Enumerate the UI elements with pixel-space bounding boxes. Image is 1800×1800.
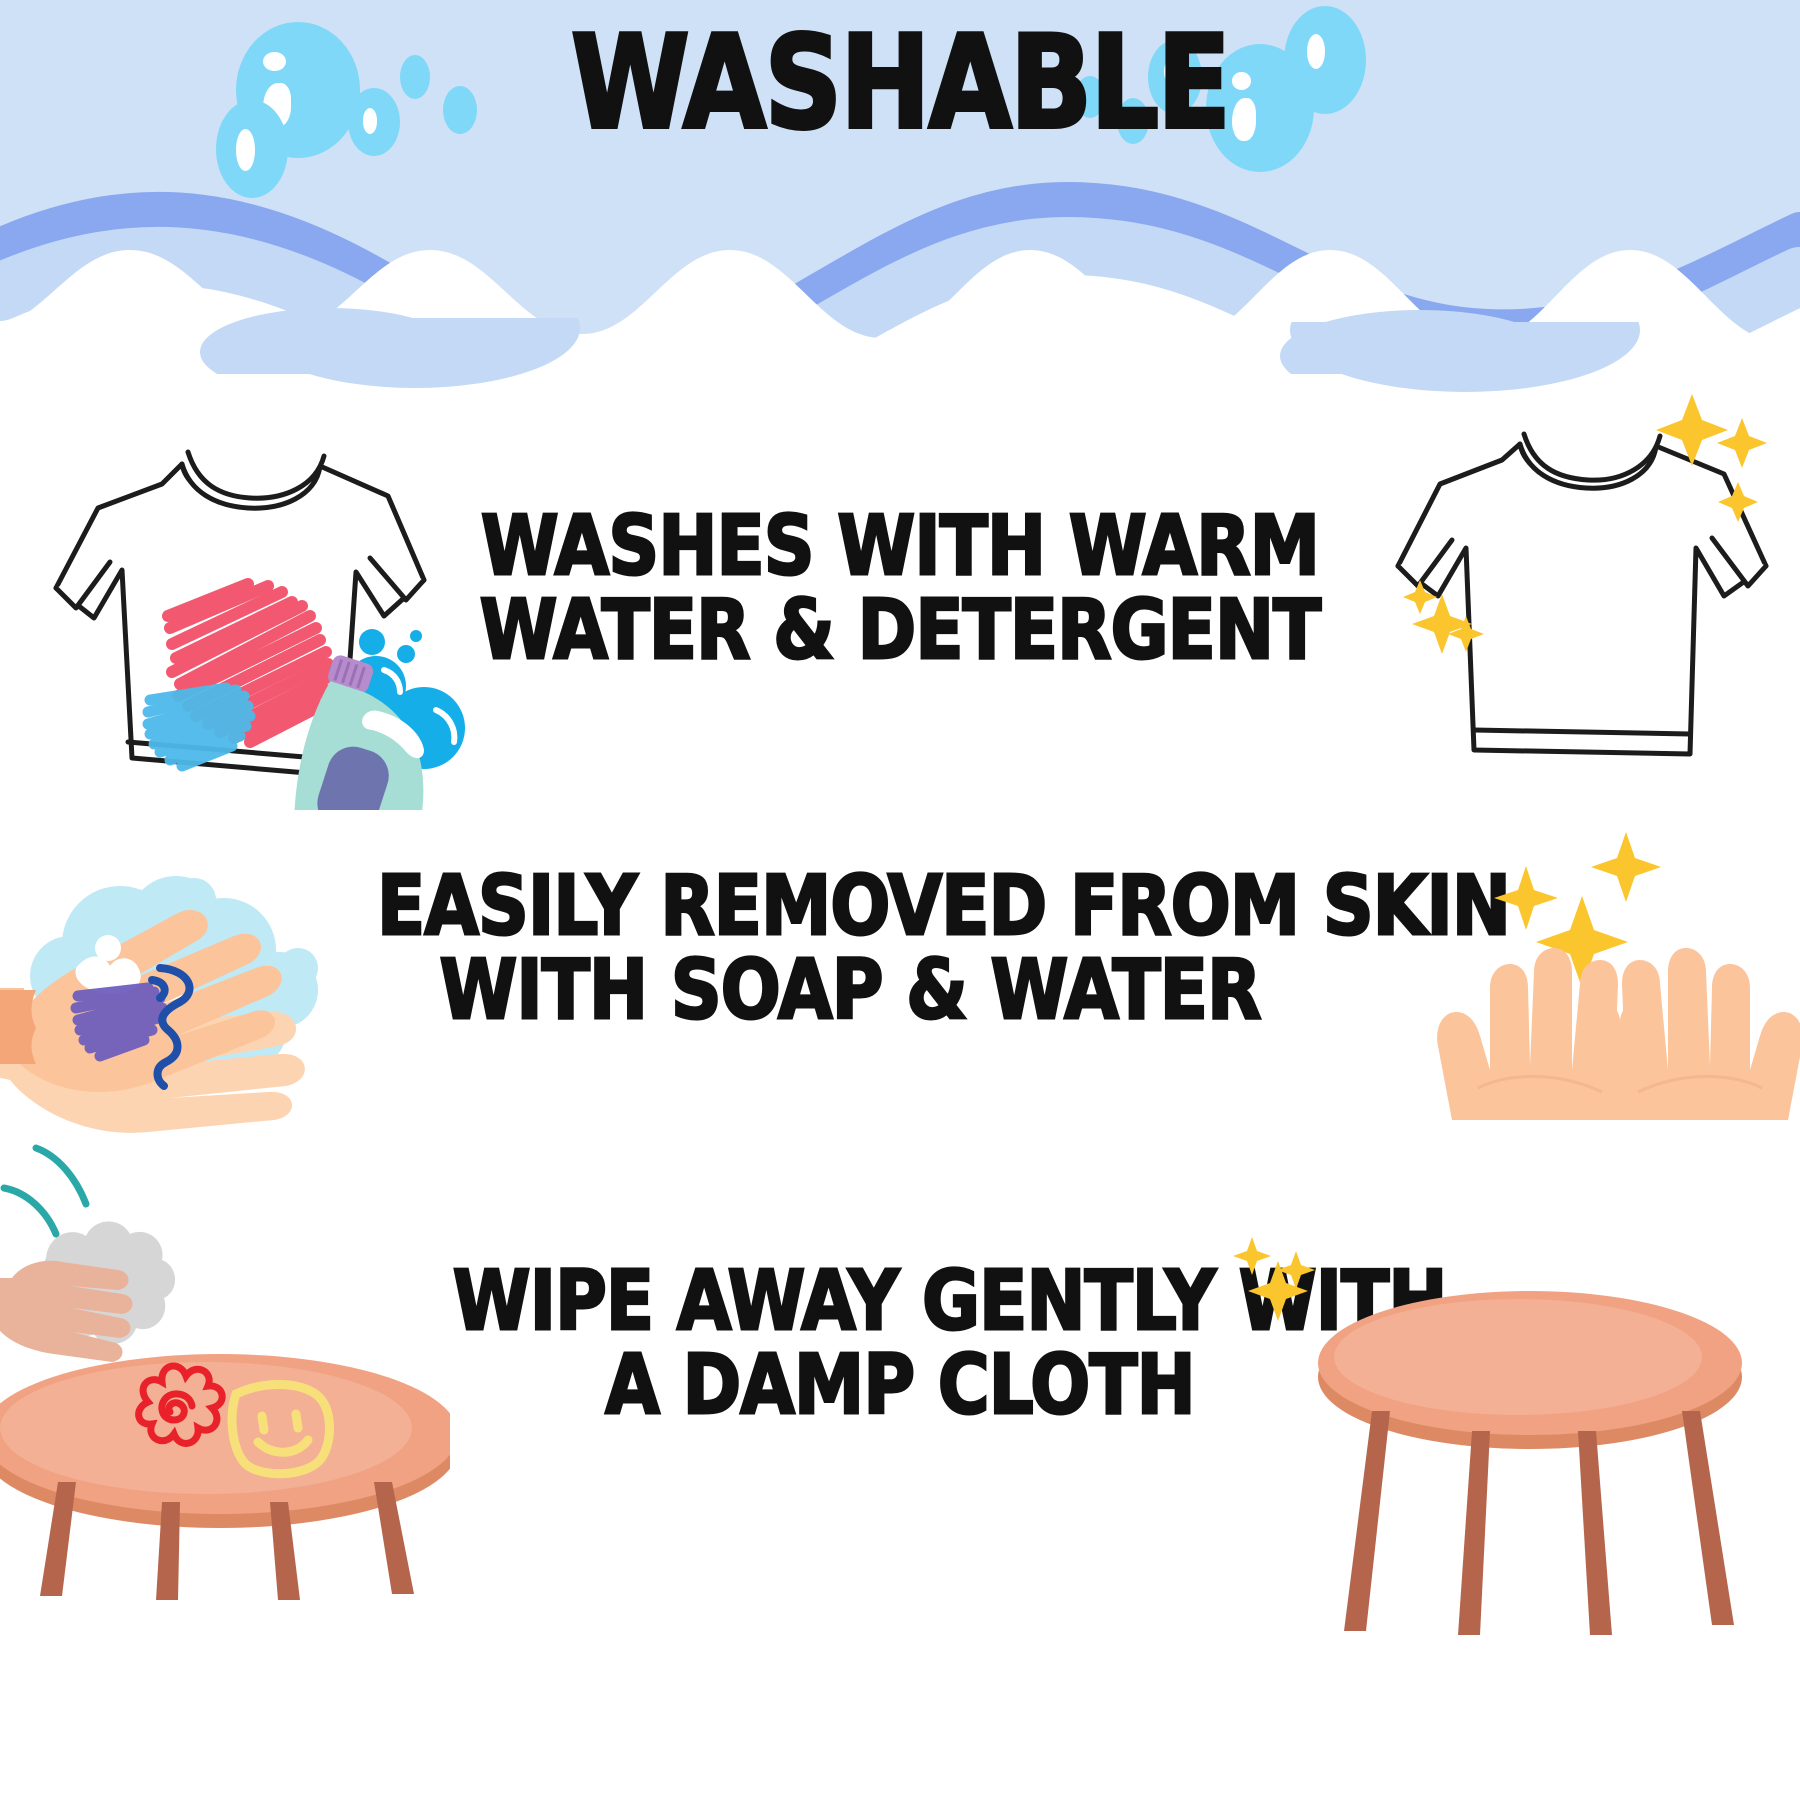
wave-blob-left xyxy=(250,318,580,400)
row-remove-from-skin-text: EASILY REMOVED FROM SKIN WITH SOAP & WAT… xyxy=(377,865,1323,1032)
washing-hands-with-soap-icon xyxy=(0,840,380,1140)
row-3-line-2: A DAMP CLOTH xyxy=(453,1344,1347,1428)
row-wash-clothes: WASHES WITH WARM WATER & DETERGENT xyxy=(0,400,1800,840)
clean-hands-with-sparkles-icon xyxy=(1430,820,1800,1140)
row-1-line-1: WASHES WITH WARM xyxy=(470,505,1330,589)
row-3-line-1: WIPE AWAY GENTLY WITH xyxy=(453,1260,1347,1344)
washable-infographic: WASHABLE xyxy=(0,0,1800,1800)
header-banner: WASHABLE xyxy=(0,0,1800,400)
page-title: WASHABLE xyxy=(144,20,1656,148)
row-wipe-surfaces-text: WIPE AWAY GENTLY WITH A DAMP CLOTH xyxy=(453,1260,1347,1427)
row-wipe-surfaces: WIPE AWAY GENTLY WITH A DAMP CLOTH xyxy=(0,1130,1800,1670)
table-with-doodles-being-wiped-icon xyxy=(0,1130,450,1600)
clean-tshirt-with-sparkles-icon xyxy=(1390,380,1790,800)
row-2-line-1: EASILY REMOVED FROM SKIN xyxy=(377,865,1323,949)
dirty-tshirt-with-detergent-icon xyxy=(20,390,520,810)
row-wash-clothes-text: WASHES WITH WARM WATER & DETERGENT xyxy=(470,505,1330,672)
sparkle-cluster-table xyxy=(1233,1237,1315,1321)
row-1-line-2: WATER & DETERGENT xyxy=(470,589,1330,673)
row-remove-from-skin: EASILY REMOVED FROM SKIN WITH SOAP & WAT… xyxy=(0,840,1800,1140)
row-2-line-2: WITH SOAP & WATER xyxy=(377,949,1323,1033)
clean-table-with-sparkles-icon xyxy=(1230,1235,1790,1635)
